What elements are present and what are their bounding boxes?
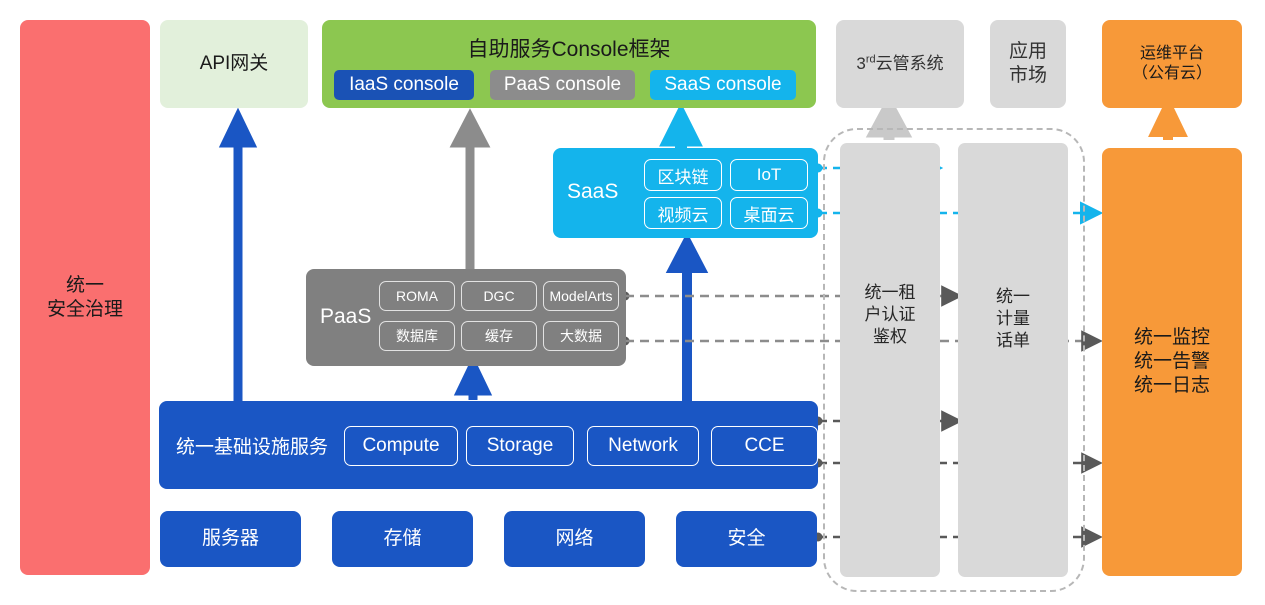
api-gateway-label: API网关 <box>200 52 269 76</box>
hardware-item-security[interactable]: 安全 <box>676 511 817 567</box>
tenant-auth-line-2: 户认证 <box>840 304 940 326</box>
tenant-auth-column[interactable] <box>840 143 940 577</box>
tenant-auth-line-3: 鉴权 <box>840 326 940 348</box>
paas-label: PaaS <box>320 305 371 329</box>
unified-security-governance-panel: 统一 安全治理 <box>20 20 150 575</box>
ops-right-line-1: 统一监控 <box>1134 326 1210 350</box>
api-gateway-box[interactable]: API网关 <box>160 20 308 108</box>
saas-console-button[interactable]: SaaS console <box>650 70 796 100</box>
metering-line-2: 计量 <box>958 308 1068 330</box>
infra-item-storage[interactable]: Storage <box>466 426 574 466</box>
arrow-paas-to-console <box>457 118 483 272</box>
saas-item-blockchain[interactable]: 区块链 <box>644 159 722 191</box>
tenant-auth-line-1: 统一租 <box>840 282 940 304</box>
third-party-sup-suffix: rd <box>866 54 876 66</box>
app-market-line-1: 应用 <box>1009 40 1047 64</box>
app-market-box[interactable]: 应用 市场 <box>990 20 1066 108</box>
app-market-line-2: 市场 <box>1009 64 1047 88</box>
paas-console-button[interactable]: PaaS console <box>490 70 635 100</box>
third-party-rest: 云管系统 <box>876 54 944 73</box>
ops-platform-top-line-1: 运维平台 <box>1140 44 1204 64</box>
ops-right-line-3: 统一日志 <box>1134 374 1210 398</box>
arrow-infra-to-apigw <box>226 118 250 406</box>
arrow-to-ops-platform <box>1156 107 1180 140</box>
metering-line-3: 话单 <box>958 330 1068 352</box>
ops-right-line-2: 统一告警 <box>1134 350 1210 374</box>
third-party-sup-number: 3 <box>856 54 865 73</box>
saas-item-desktop-cloud[interactable]: 桌面云 <box>730 197 808 229</box>
ops-platform-top-line-2: （公有云） <box>1132 64 1212 84</box>
paas-item-cache[interactable]: 缓存 <box>461 321 537 351</box>
arrow-infra-to-paas <box>461 366 485 400</box>
saas-item-video-cloud[interactable]: 视频云 <box>644 197 722 229</box>
unified-infrastructure-label: 统一基础设施服务 <box>176 432 328 459</box>
saas-label: SaaS <box>567 180 618 204</box>
paas-panel: PaaS ROMA DGC ModelArts 数据库 缓存 大数据 <box>306 269 626 366</box>
infra-item-cce[interactable]: CCE <box>711 426 818 466</box>
hardware-item-server[interactable]: 服务器 <box>160 511 301 567</box>
console-framework-title: 自助服务Console框架 <box>322 33 816 63</box>
paas-item-bigdata[interactable]: 大数据 <box>543 321 619 351</box>
console-framework-panel: 自助服务Console框架 IaaS console PaaS console … <box>322 20 816 108</box>
third-party-cloud-mgmt-box[interactable]: 3rd云管系统 <box>836 20 964 108</box>
paas-item-dgc[interactable]: DGC <box>461 281 537 311</box>
metering-line-1: 统一 <box>958 286 1068 308</box>
hardware-item-storage[interactable]: 存储 <box>332 511 473 567</box>
saas-item-iot[interactable]: IoT <box>730 159 808 191</box>
hardware-item-network[interactable]: 网络 <box>504 511 645 567</box>
saas-panel: SaaS 区块链 IoT 视频云 桌面云 <box>553 148 818 238</box>
unified-infrastructure-panel: 统一基础设施服务 Compute Storage Network CCE <box>159 401 818 489</box>
metering-billing-column[interactable] <box>958 143 1068 577</box>
paas-item-modelarts[interactable]: ModelArts <box>543 281 619 311</box>
ops-monitoring-panel: 统一监控 统一告警 统一日志 <box>1102 148 1242 576</box>
iaas-console-button[interactable]: IaaS console <box>334 70 474 100</box>
arrow-infra-to-saas <box>674 243 700 406</box>
infra-item-compute[interactable]: Compute <box>344 426 458 466</box>
architecture-diagram: 统一 安全治理 API网关 自助服务Console框架 IaaS console… <box>0 0 1265 605</box>
paas-item-database[interactable]: 数据库 <box>379 321 455 351</box>
third-party-label: 3rd云管系统 <box>856 53 943 74</box>
tenant-auth-label: 统一租 户认证 鉴权 <box>840 282 940 348</box>
governance-line-2: 安全治理 <box>47 298 123 322</box>
infra-item-network[interactable]: Network <box>587 426 699 466</box>
arrow-saas-to-console <box>668 115 694 152</box>
ops-platform-public-cloud-box[interactable]: 运维平台 （公有云） <box>1102 20 1242 108</box>
metering-billing-label: 统一 计量 话单 <box>958 286 1068 352</box>
governance-line-1: 统一 <box>66 274 104 298</box>
paas-item-roma[interactable]: ROMA <box>379 281 455 311</box>
